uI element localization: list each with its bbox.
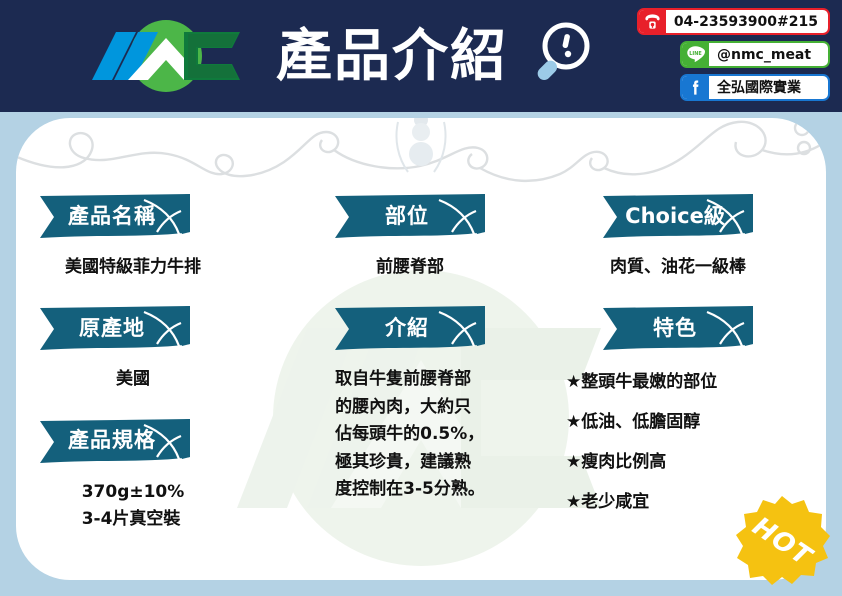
feature-item: ★瘦肉比例高 xyxy=(566,454,717,471)
feature-item: ★低油、低膽固醇 xyxy=(566,414,717,431)
nmc-logo xyxy=(88,16,248,96)
column-left: 產品名稱 美國特級菲力牛排 原產地 xyxy=(16,118,284,580)
ribbon-description: 介紹 xyxy=(335,306,485,350)
page-header: 產品介紹 04-23593900#215 xyxy=(0,0,842,112)
specification-line: 3-4片真空裝 xyxy=(82,506,185,534)
contact-line[interactable]: LINE @nmc_meat xyxy=(680,41,830,68)
ribbon-cut: 部位 xyxy=(335,194,485,238)
ribbon-label: 特色 xyxy=(603,306,753,350)
ribbon-features: 特色 xyxy=(603,306,753,350)
contact-facebook-text: 全弘國際實業 xyxy=(709,81,801,95)
contact-line-text: @nmc_meat xyxy=(709,48,811,62)
description-paragraph: 取自牛隻前腰脊部 的腰內肉，大約只 佔每頭牛的0.5%， 極其珍貴，建議熟 度控… xyxy=(335,366,485,504)
cut-value: 前腰脊部 xyxy=(376,254,444,280)
ribbon-product-name: 產品名稱 xyxy=(40,194,190,238)
contact-phone[interactable]: 04-23593900#215 xyxy=(637,8,830,35)
title-block: 產品介紹 xyxy=(276,14,676,100)
columns-container: 產品名稱 美國特級菲力牛排 原產地 xyxy=(16,118,826,580)
page-title: 產品介紹 xyxy=(276,29,508,85)
contact-facebook[interactable]: 全弘國際實業 xyxy=(680,74,830,101)
svg-text:LINE: LINE xyxy=(689,51,702,57)
specification-value: 370g±10% 3-4片真空裝 xyxy=(82,479,185,534)
ribbon-origin: 原產地 xyxy=(40,306,190,350)
grade-value: 肉質、油花一級棒 xyxy=(610,254,746,280)
ribbon-label: 介紹 xyxy=(335,306,485,350)
description-line: 度控制在3-5分熟。 xyxy=(335,476,485,504)
magnifier-exclamation-icon xyxy=(522,20,596,94)
description-line: 取自牛隻前腰脊部 xyxy=(335,366,485,394)
phone-icon xyxy=(639,8,666,35)
facebook-icon xyxy=(682,74,709,101)
product-info-poster: 產品名稱 美國特級菲力牛排 原產地 xyxy=(0,0,842,596)
feature-item: ★整頭牛最嫩的部位 xyxy=(566,374,717,391)
origin-value: 美國 xyxy=(116,366,150,392)
specification-line: 370g±10% xyxy=(82,479,185,507)
hot-badge: HOT xyxy=(734,494,830,590)
feature-item: ★老少咸宜 xyxy=(566,494,717,511)
feature-list: ★整頭牛最嫩的部位 ★低油、低膽固醇 ★瘦肉比例高 ★老少咸宜 xyxy=(566,374,717,534)
ribbon-label: Choice級 xyxy=(603,194,753,238)
line-icon: LINE xyxy=(682,41,709,68)
ribbon-specification: 產品規格 xyxy=(40,419,190,463)
ribbon-label: 部位 xyxy=(335,194,485,238)
ribbon-label: 產品名稱 xyxy=(40,194,190,238)
column-middle: 部位 前腰脊部 介紹 xyxy=(284,118,536,580)
description-line: 極其珍貴，建議熟 xyxy=(335,449,485,477)
ribbon-label: 產品規格 xyxy=(40,419,190,463)
ribbon-label: 原產地 xyxy=(40,306,190,350)
contact-phone-text: 04-23593900#215 xyxy=(666,15,818,29)
product-name-value: 美國特級菲力牛排 xyxy=(65,254,201,280)
contact-badges: 04-23593900#215 LINE @nmc_meat 全弘國際實 xyxy=(637,8,830,101)
ribbon-grade: Choice級 xyxy=(603,194,753,238)
description-line: 佔每頭牛的0.5%， xyxy=(335,421,485,449)
description-line: 的腰內肉，大約只 xyxy=(335,394,485,422)
